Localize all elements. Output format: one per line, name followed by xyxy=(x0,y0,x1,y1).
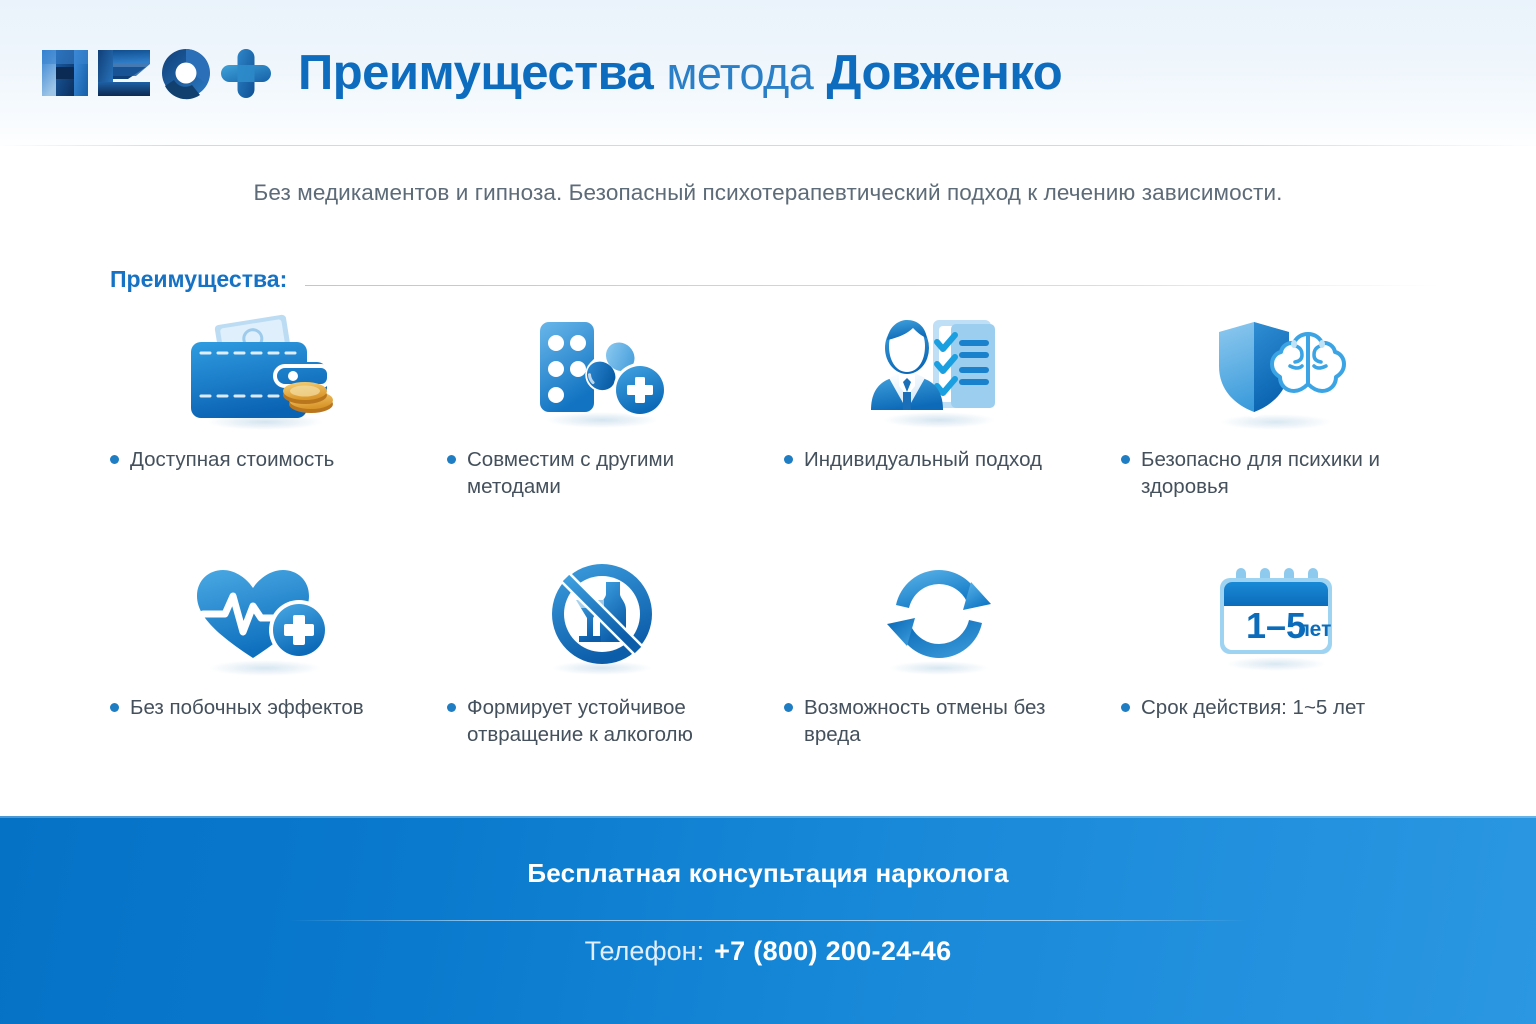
advantage-label: Безопасно для психики и здоровья xyxy=(1141,446,1403,500)
bullet-icon xyxy=(1121,703,1130,712)
page-title-part-2: метода xyxy=(666,48,813,99)
bullet-icon xyxy=(447,455,456,464)
advantage-item: Индивидуальный подход xyxy=(770,308,1107,504)
advantage-item: Формирует устойчивое отвращение к алкого… xyxy=(433,556,770,752)
advantage-item: Без побочных эффектов xyxy=(96,556,433,752)
section-heading-rule xyxy=(305,285,1440,286)
bullet-icon xyxy=(784,455,793,464)
bullet-icon xyxy=(110,455,119,464)
advantage-item: Доступная стоимость xyxy=(96,308,433,504)
no-alcohol-icon xyxy=(433,556,770,684)
shield-brain-icon xyxy=(1107,308,1444,436)
logo-letter-o xyxy=(162,49,210,99)
advantage-label-row: Доступная стоимость xyxy=(96,446,433,473)
footer-phone-row[interactable]: Телефон:+7 (800) 200-24-46 xyxy=(0,936,1536,967)
advantage-label-row: Индивидуальный подход xyxy=(770,446,1107,473)
refresh-arrows-icon xyxy=(770,556,1107,684)
calendar-unit-text: лет xyxy=(1296,618,1331,641)
header: Преимущества метода Довженко xyxy=(0,0,1536,146)
bullet-icon xyxy=(110,703,119,712)
advantage-item: Возможность отмены без вреда xyxy=(770,556,1107,752)
wallet-coins-icon xyxy=(96,308,433,436)
bullet-icon xyxy=(1121,455,1130,464)
phone-label: Телефон: xyxy=(585,936,705,966)
footer-divider xyxy=(288,920,1248,921)
section-heading: Преимущества: xyxy=(110,262,1440,296)
page-title-part-3: Довженко xyxy=(826,46,1062,100)
advantage-label: Доступная стоимость xyxy=(130,446,334,473)
advantage-label: Срок действия: 1~5 лет xyxy=(1141,694,1365,721)
advantage-label-row: Возможность отмены без вреда xyxy=(770,694,1107,748)
logo-letter-e xyxy=(98,50,150,96)
advantage-label-row: Без побочных эффектов xyxy=(96,694,433,721)
logo-plus-icon xyxy=(221,49,271,98)
logo-letter-n xyxy=(42,50,88,96)
advantage-label: Возможность отмены без вреда xyxy=(804,694,1066,748)
page-subtitle: Без медикаментов и гипноза. Безопасный п… xyxy=(0,180,1536,206)
advantage-label-row: Безопасно для психики и здоровья xyxy=(1107,446,1444,500)
calendar-icon: 1–5 лет xyxy=(1107,556,1444,684)
advantage-label-row: Формирует устойчивое отвращение к алкого… xyxy=(433,694,770,748)
bullet-icon xyxy=(784,703,793,712)
pills-capsule-plus-icon xyxy=(433,308,770,436)
advantage-label: Без побочных эффектов xyxy=(130,694,364,721)
footer-heading: Бесплатная консупьтация нарколога xyxy=(0,858,1536,889)
brand-logo[interactable] xyxy=(38,34,274,112)
advantage-item: Совместим с другими методами xyxy=(433,308,770,504)
advantage-label-row: Совместим с другими методами xyxy=(433,446,770,500)
phone-number[interactable]: +7 (800) 200-24-46 xyxy=(714,936,951,966)
advantage-label: Совместим с другими методами xyxy=(467,446,729,500)
footer-top-divider xyxy=(0,816,1536,818)
advantage-label-row: Срок действия: 1~5 лет xyxy=(1107,694,1444,721)
page-title: Преимущества метода Довженко xyxy=(298,49,1062,98)
infographic-page: Преимущества метода Довженко Без медикам… xyxy=(0,0,1536,1024)
advantage-item: 1–5 лет Срок действия: 1~5 лет xyxy=(1107,556,1444,752)
heart-pulse-plus-icon xyxy=(96,556,433,684)
advantage-label: Индивидуальный подход xyxy=(804,446,1042,473)
footer-cta: Бесплатная консупьтация нарколога Телефо… xyxy=(0,816,1536,1024)
advantage-item: Безопасно для психики и здоровья xyxy=(1107,308,1444,504)
section-heading-label: Преимущества: xyxy=(110,266,287,293)
advantages-grid: Доступная стоимость xyxy=(96,308,1444,752)
bullet-icon xyxy=(447,703,456,712)
page-title-part-1: Преимущества xyxy=(298,46,653,100)
advantage-label: Формирует устойчивое отвращение к алкого… xyxy=(467,694,729,748)
doctor-checklist-icon xyxy=(770,308,1107,436)
